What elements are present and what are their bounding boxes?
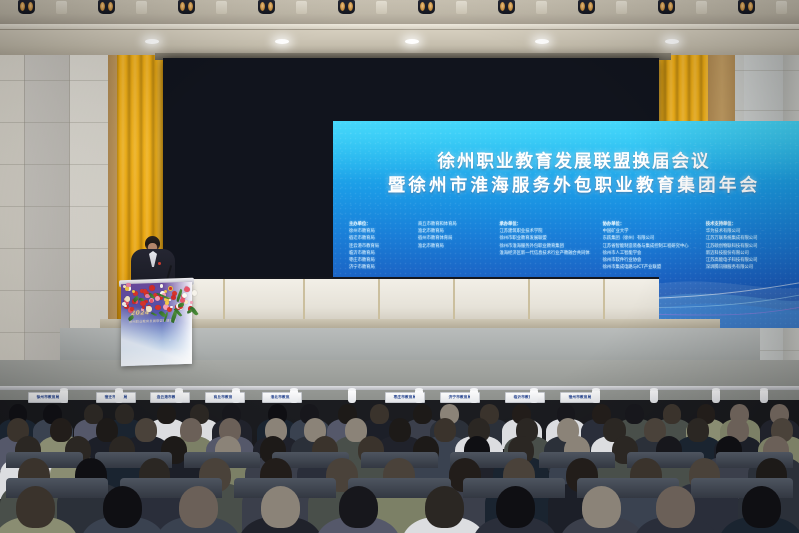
organizer-item: 江苏硕创物联科技有限公司 bbox=[706, 243, 799, 250]
attendee-head bbox=[425, 486, 464, 528]
attendee-head bbox=[656, 486, 695, 528]
ceiling-spot bbox=[145, 39, 159, 44]
attendee-head bbox=[179, 486, 218, 528]
water-cup bbox=[232, 390, 240, 403]
water-cup bbox=[348, 390, 356, 403]
speaker-lapel-pin bbox=[158, 262, 161, 265]
stage-light bbox=[578, 0, 595, 14]
water-cup bbox=[650, 390, 658, 403]
leaf bbox=[151, 312, 157, 316]
floral-arrangement bbox=[118, 280, 198, 320]
marble-seam bbox=[735, 110, 799, 111]
organizer-item: 宿迁市教育局 bbox=[349, 235, 408, 242]
organizer-item: 徐州市人工智能学会 bbox=[603, 250, 696, 257]
organizer-column-heading: 主办单位： bbox=[349, 221, 408, 228]
attendee-head bbox=[103, 486, 142, 528]
water-cup bbox=[60, 390, 68, 403]
marble-seam bbox=[0, 164, 108, 165]
leaf bbox=[127, 314, 135, 321]
organizer-item: 徐州市淮海服务外包职业教育集团 bbox=[499, 243, 592, 250]
screen-organizer-columns: 主办单位：徐州市教育局宿迁市教育局连云港市教育局临沂市教育局枣庄市教育局济宁市教… bbox=[349, 221, 799, 271]
water-cup bbox=[530, 390, 538, 403]
stage-light bbox=[178, 0, 195, 14]
organizer-item: 淮北市教育局 bbox=[418, 228, 489, 235]
flower bbox=[150, 299, 153, 302]
organizer-item: 淮海经济区新一代信息技术行业产教融合共同体 bbox=[499, 250, 592, 257]
organizer-column-1: 主办单位：徐州市教育局宿迁市教育局连云港市教育局临沂市教育局枣庄市教育局济宁市教… bbox=[349, 221, 408, 271]
organizer-item: 江苏万联系统集成有限公司 bbox=[706, 235, 799, 242]
attendee-head bbox=[157, 404, 176, 424]
leaf bbox=[178, 302, 185, 307]
ceiling-soffit bbox=[0, 0, 799, 24]
organizer-item: 华为技术有限公司 bbox=[706, 228, 799, 235]
ceiling-downlight bbox=[536, 1, 547, 14]
ceiling-downlight bbox=[616, 1, 627, 14]
attendee-head bbox=[413, 404, 432, 424]
organizer-item: 东跃集团（徐州）有限公司 bbox=[603, 235, 696, 242]
marble-seam bbox=[0, 248, 108, 249]
organizer-item: 深圳腾讯微服务有限公司 bbox=[706, 264, 799, 271]
ceiling-downlight bbox=[776, 1, 787, 14]
stage-edge bbox=[100, 319, 720, 328]
attendee-head bbox=[115, 404, 134, 424]
flower bbox=[160, 284, 163, 287]
flower bbox=[143, 289, 148, 294]
led-screen-frame: 徐州职业教育发展联盟换届会议 暨徐州市淮海服务外包职业教育集团年会 主办单位：徐… bbox=[163, 58, 659, 278]
water-cup bbox=[415, 390, 423, 403]
water-cup bbox=[760, 390, 768, 403]
marble-seam bbox=[735, 70, 799, 71]
organizer-item: 济宁市教育局 bbox=[349, 264, 408, 271]
organizer-item: 徐州市教育局 bbox=[349, 228, 408, 235]
attendee-head bbox=[135, 418, 157, 442]
ceiling-spot bbox=[405, 39, 419, 44]
stage-light bbox=[418, 0, 435, 14]
organizer-item: 徐州市软件行业协会 bbox=[603, 257, 696, 264]
water-cup bbox=[290, 390, 298, 403]
organizer-item: 徐州市职业教育发展联盟 bbox=[499, 235, 592, 242]
flower bbox=[149, 285, 155, 291]
screen-title-line1: 徐州职业教育发展联盟换届会议 bbox=[333, 151, 799, 174]
attendee-head bbox=[16, 486, 55, 528]
organizer-item: 宿州市教育体育局 bbox=[418, 235, 489, 242]
attendee-head bbox=[742, 486, 781, 528]
organizer-column-heading: 技术支持单位： bbox=[706, 221, 799, 228]
flower bbox=[142, 306, 145, 309]
organizer-item: 江苏建筑职业技术学院 bbox=[499, 228, 592, 235]
organizer-item: 中国矿业大学 bbox=[603, 228, 696, 235]
flower bbox=[126, 283, 131, 288]
ceiling-downlight bbox=[136, 1, 147, 14]
attendee-head bbox=[582, 486, 621, 528]
organizer-column-2: 商丘市教育和体育局淮北市教育局宿州市教育体育局淮北市教育局 bbox=[418, 221, 489, 271]
organizer-column-heading: 协办单位： bbox=[603, 221, 696, 228]
under-screen-wall bbox=[163, 277, 659, 319]
attendee-head bbox=[625, 404, 644, 424]
organizer-item: 淮北市教育局 bbox=[418, 243, 489, 250]
stage-light bbox=[498, 0, 515, 14]
attendee-head bbox=[370, 404, 389, 424]
water-cup bbox=[592, 390, 600, 403]
auditorium-scene: 徐州职业教育发展联盟换届会议 暨徐州市淮海服务外包职业教育集团年会 主办单位：徐… bbox=[0, 0, 799, 533]
marble-seam bbox=[0, 290, 108, 291]
screen-title-block: 徐州职业教育发展联盟换届会议 暨徐州市淮海服务外包职业教育集团年会 bbox=[333, 151, 799, 199]
organizer-column-4: 协办单位：中国矿业大学东跃集团（徐州）有限公司江苏省智能制造装备与集成控制工程研… bbox=[603, 221, 696, 271]
flower bbox=[125, 296, 131, 302]
ceiling-downlight bbox=[376, 1, 387, 14]
name-placard: 连云港市教育局 bbox=[150, 392, 190, 403]
attendee-head bbox=[687, 418, 709, 442]
flower bbox=[170, 306, 173, 309]
water-cup bbox=[175, 390, 183, 403]
attendee-head bbox=[339, 486, 378, 528]
ceiling-downlight bbox=[696, 1, 707, 14]
flower bbox=[184, 287, 190, 293]
flower bbox=[155, 296, 160, 301]
organizer-column-heading: 承办单位： bbox=[499, 221, 592, 228]
organizer-item: 商丘市教育和体育局 bbox=[418, 221, 489, 228]
attendee-head bbox=[663, 404, 682, 424]
organizer-column-5: 技术支持单位：华为技术有限公司江苏万联系统集成有限公司江苏硕创物联科技有限公司新… bbox=[706, 221, 799, 271]
ceiling-downlight bbox=[56, 1, 67, 14]
stage-light bbox=[18, 0, 35, 14]
organizer-column-3: 承办单位：江苏建筑职业技术学院徐州市职业教育发展联盟徐州市淮海服务外包职业教育集… bbox=[499, 221, 592, 271]
ceiling-spot bbox=[665, 39, 679, 44]
flower bbox=[146, 306, 151, 311]
organizer-item: 连云港市教育局 bbox=[349, 243, 408, 250]
stage-light bbox=[338, 0, 355, 14]
water-cup bbox=[712, 390, 720, 403]
ceiling-beam bbox=[0, 30, 799, 55]
organizer-item: 枣庄市教育局 bbox=[349, 257, 408, 264]
stage-light bbox=[98, 0, 115, 14]
organizer-item: 新迈科技股份有限公司 bbox=[706, 250, 799, 257]
attendee-head bbox=[496, 486, 535, 528]
attendee-head bbox=[180, 418, 202, 442]
stage-light bbox=[658, 0, 675, 14]
flower bbox=[130, 307, 134, 311]
water-cup bbox=[470, 390, 478, 403]
flower bbox=[192, 290, 197, 295]
ceiling-downlight bbox=[456, 1, 467, 14]
attendee-head bbox=[261, 486, 300, 528]
left-wall-column bbox=[24, 55, 70, 375]
flower bbox=[155, 305, 160, 310]
organizer-item: 临沂市教育局 bbox=[349, 250, 408, 257]
flower bbox=[190, 301, 193, 304]
water-cup bbox=[115, 390, 123, 403]
ceiling-downlight bbox=[216, 1, 227, 14]
ceiling-downlight bbox=[296, 1, 307, 14]
organizer-item: 徐州市集成电路与ICT产业联盟 bbox=[603, 264, 696, 271]
screen-title-line2: 暨徐州市淮海服务外包职业教育集团年会 bbox=[333, 174, 799, 199]
marble-seam bbox=[0, 206, 108, 207]
flower bbox=[165, 301, 169, 305]
marble-seam bbox=[0, 122, 108, 123]
ceiling-spot bbox=[535, 39, 549, 44]
ceiling-spot bbox=[275, 39, 289, 44]
organizer-item: 江苏省智能制造装备与集成控制工程研究中心 bbox=[603, 243, 696, 250]
organizer-item: 江苏高能电子科技有限公司 bbox=[706, 257, 799, 264]
attendee-head bbox=[389, 418, 411, 442]
attendee-head bbox=[434, 418, 456, 442]
stage-light bbox=[258, 0, 275, 14]
stage-light bbox=[738, 0, 755, 14]
name-placard: 临沂市教育局 bbox=[505, 392, 545, 403]
marble-seam bbox=[0, 80, 108, 81]
